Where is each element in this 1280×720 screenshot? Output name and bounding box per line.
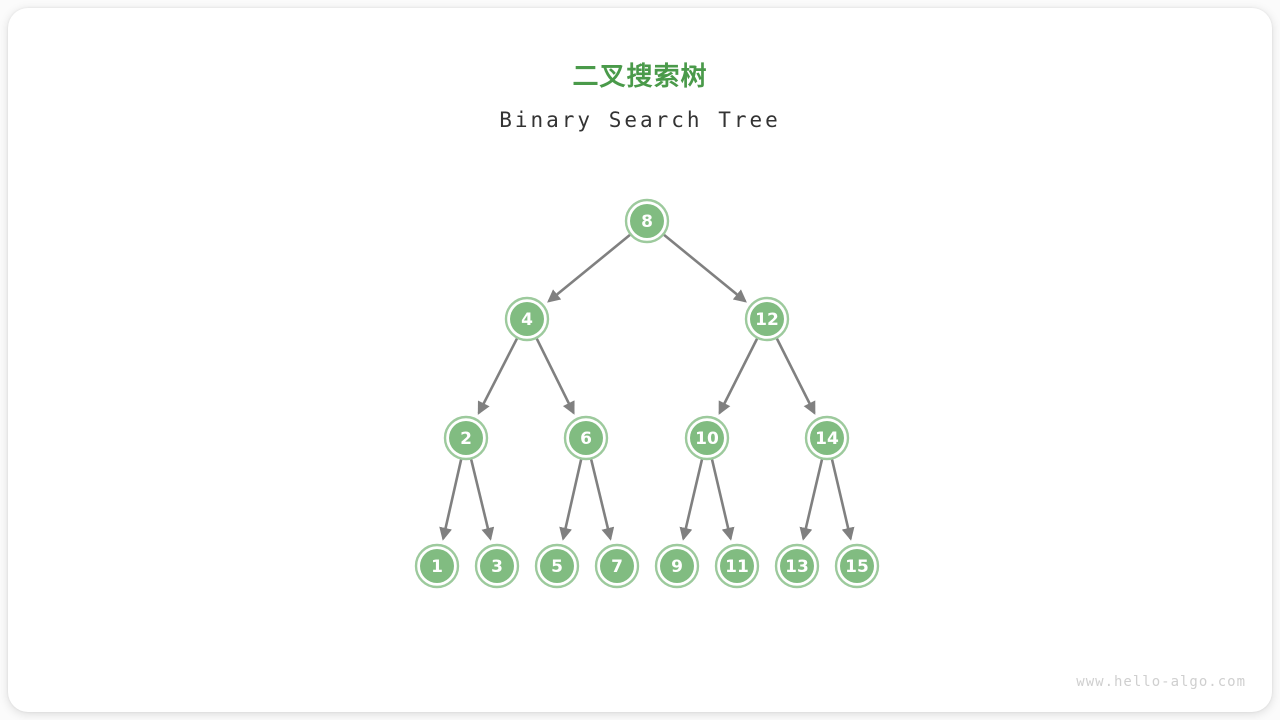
node-value-label: 1	[431, 557, 443, 577]
tree-edge	[537, 339, 574, 413]
node-value-label: 9	[671, 557, 683, 577]
tree-edge	[683, 459, 702, 538]
tree-edge	[591, 459, 610, 538]
node-value-label: 2	[460, 429, 472, 449]
tree-edge	[549, 235, 630, 301]
tree-edge	[720, 339, 757, 413]
tree-node[interactable]: 14	[806, 417, 848, 459]
node-value-label: 14	[815, 429, 839, 449]
tree-node[interactable]: 7	[596, 545, 638, 587]
tree-node[interactable]: 6	[565, 417, 607, 459]
tree-node[interactable]: 8	[626, 200, 668, 242]
tree-node[interactable]: 3	[476, 545, 518, 587]
tree-node[interactable]: 9	[656, 545, 698, 587]
node-value-label: 3	[491, 557, 503, 577]
tree-node[interactable]: 2	[445, 417, 487, 459]
tree-edge	[664, 235, 745, 301]
tree-edge	[479, 339, 517, 414]
tree-edge	[443, 459, 461, 538]
site-watermark: www.hello-algo.com	[1076, 674, 1246, 690]
node-value-label: 6	[580, 429, 592, 449]
tree-edge	[777, 339, 814, 413]
node-value-label: 8	[641, 212, 653, 232]
tree-edge	[712, 459, 731, 538]
node-value-label: 7	[611, 557, 623, 577]
tree-node[interactable]: 10	[686, 417, 728, 459]
node-value-label: 4	[521, 310, 533, 330]
tree-node[interactable]: 11	[716, 545, 758, 587]
node-value-label: 10	[695, 429, 719, 449]
tree-node[interactable]: 4	[506, 298, 548, 340]
tree-edge	[803, 459, 822, 538]
tree-edge	[563, 459, 581, 538]
tree-edge	[471, 459, 490, 538]
binary-search-tree-diagram: 841226101413579111315	[8, 8, 1272, 712]
tree-edge	[832, 459, 851, 538]
node-value-label: 5	[551, 557, 563, 577]
diagram-card: 二叉搜索树 Binary Search Tree 841226101413579…	[8, 8, 1272, 712]
tree-node[interactable]: 5	[536, 545, 578, 587]
tree-node[interactable]: 1	[416, 545, 458, 587]
node-value-label: 13	[785, 557, 809, 577]
tree-node[interactable]: 13	[776, 545, 818, 587]
edge-layer	[443, 235, 850, 539]
node-layer: 841226101413579111315	[416, 200, 878, 587]
node-value-label: 11	[725, 557, 749, 577]
node-value-label: 12	[755, 310, 779, 330]
tree-node[interactable]: 12	[746, 298, 788, 340]
node-value-label: 15	[845, 557, 869, 577]
tree-node[interactable]: 15	[836, 545, 878, 587]
